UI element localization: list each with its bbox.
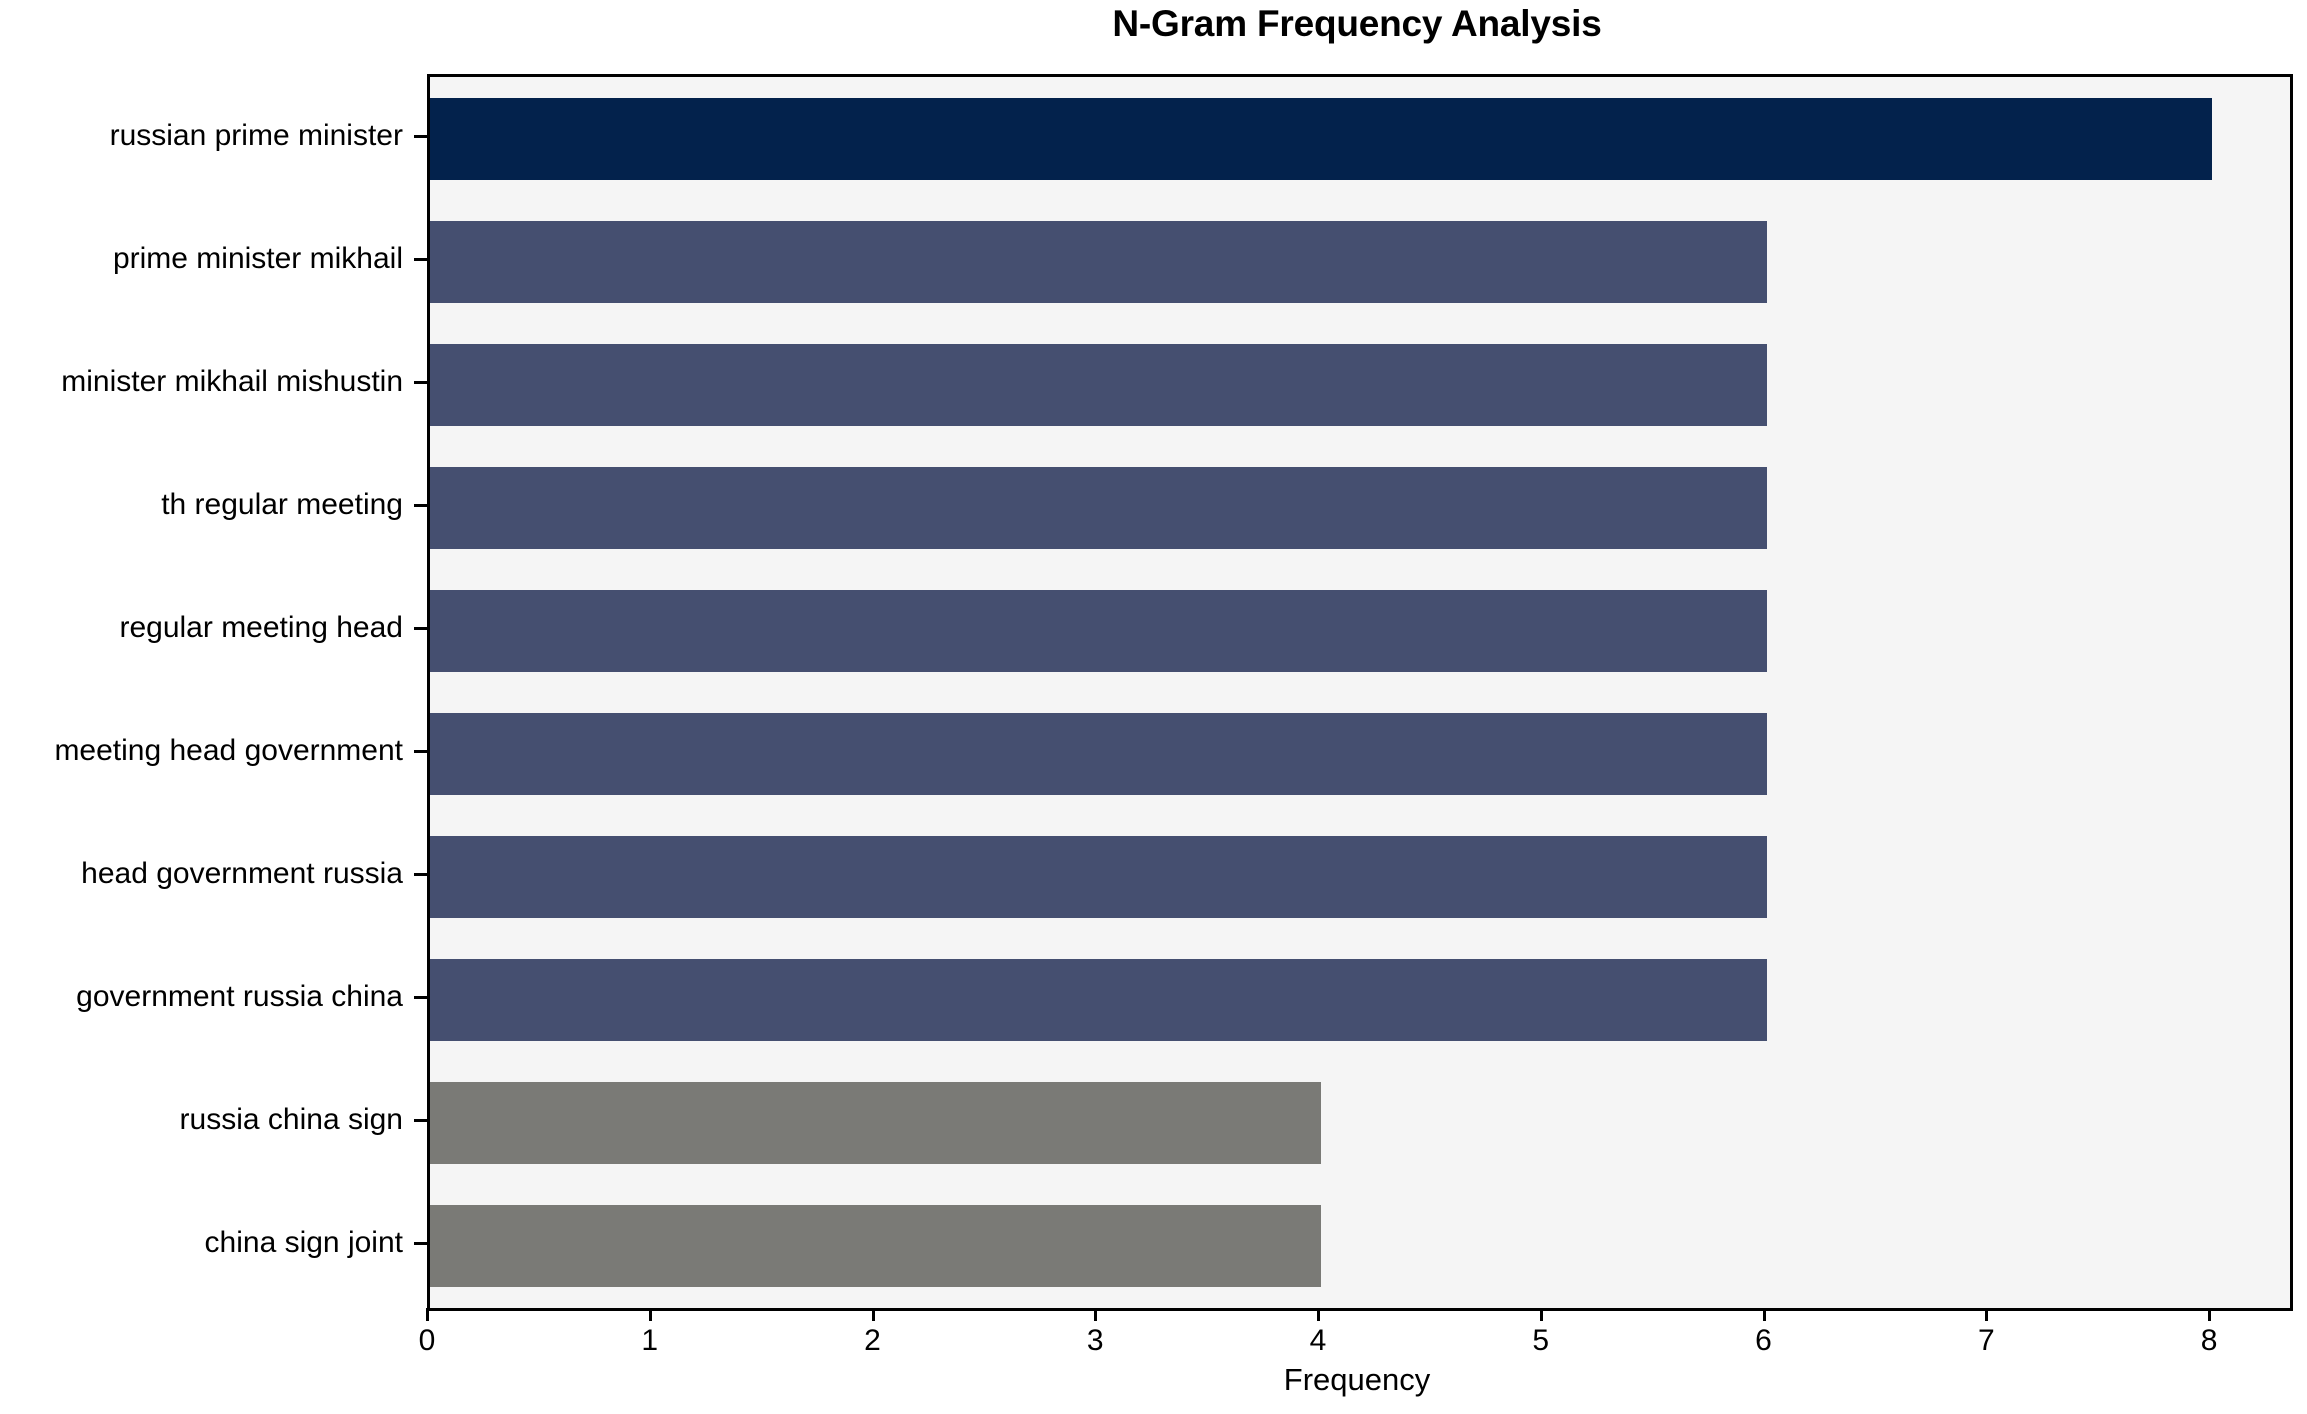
chart-figure: N-Gram Frequency Analysis russian prime … — [0, 0, 2307, 1414]
y-tick-label-7: government russia china — [0, 982, 403, 1012]
y-tick-label-8: russia china sign — [0, 1105, 403, 1135]
bars-container — [430, 77, 2290, 1308]
y-tick-label-2: minister mikhail mishustin — [0, 367, 403, 397]
y-tick-mark-4 — [414, 627, 427, 630]
y-tick-mark-1 — [414, 258, 427, 261]
x-tick-label-0: 0 — [397, 1323, 457, 1359]
bar-9 — [430, 1205, 1321, 1287]
bar-0 — [430, 98, 2212, 180]
bar-5 — [430, 713, 1767, 795]
y-tick-label-6: head government russia — [0, 859, 403, 889]
x-axis-label: Frequency — [427, 1362, 2287, 1398]
plot-area — [427, 74, 2293, 1311]
y-tick-mark-3 — [414, 504, 427, 507]
x-tick-label-7: 7 — [1956, 1323, 2016, 1359]
x-tick-label-1: 1 — [620, 1323, 680, 1359]
bar-8 — [430, 1082, 1321, 1164]
x-tick-mark-2 — [872, 1308, 875, 1321]
y-tick-label-0: russian prime minister — [0, 121, 403, 151]
y-tick-mark-6 — [414, 873, 427, 876]
x-tick-label-6: 6 — [1734, 1323, 1794, 1359]
y-tick-mark-9 — [414, 1242, 427, 1245]
bar-1 — [430, 221, 1767, 303]
bar-2 — [430, 344, 1767, 426]
x-tick-label-3: 3 — [1065, 1323, 1125, 1359]
y-tick-mark-0 — [414, 135, 427, 138]
x-tick-label-5: 5 — [1511, 1323, 1571, 1359]
x-tick-mark-7 — [1985, 1308, 1988, 1321]
x-tick-mark-4 — [1317, 1308, 1320, 1321]
y-tick-label-5: meeting head government — [0, 736, 403, 766]
x-tick-mark-8 — [2208, 1308, 2211, 1321]
y-tick-label-9: china sign joint — [0, 1228, 403, 1258]
x-tick-mark-3 — [1094, 1308, 1097, 1321]
y-tick-mark-8 — [414, 1119, 427, 1122]
x-tick-label-8: 8 — [2179, 1323, 2239, 1359]
bar-3 — [430, 467, 1767, 549]
bar-4 — [430, 590, 1767, 672]
y-tick-label-4: regular meeting head — [0, 613, 403, 643]
x-tick-label-2: 2 — [843, 1323, 903, 1359]
x-tick-mark-6 — [1763, 1308, 1766, 1321]
y-tick-mark-7 — [414, 996, 427, 999]
y-tick-label-3: th regular meeting — [0, 490, 403, 520]
x-tick-mark-0 — [426, 1308, 429, 1321]
y-tick-mark-2 — [414, 381, 427, 384]
y-tick-mark-5 — [414, 750, 427, 753]
bar-7 — [430, 959, 1767, 1041]
chart-title: N-Gram Frequency Analysis — [427, 2, 2287, 46]
x-tick-mark-1 — [649, 1308, 652, 1321]
y-tick-label-1: prime minister mikhail — [0, 244, 403, 274]
x-tick-mark-5 — [1540, 1308, 1543, 1321]
x-tick-label-4: 4 — [1288, 1323, 1348, 1359]
bar-6 — [430, 836, 1767, 918]
